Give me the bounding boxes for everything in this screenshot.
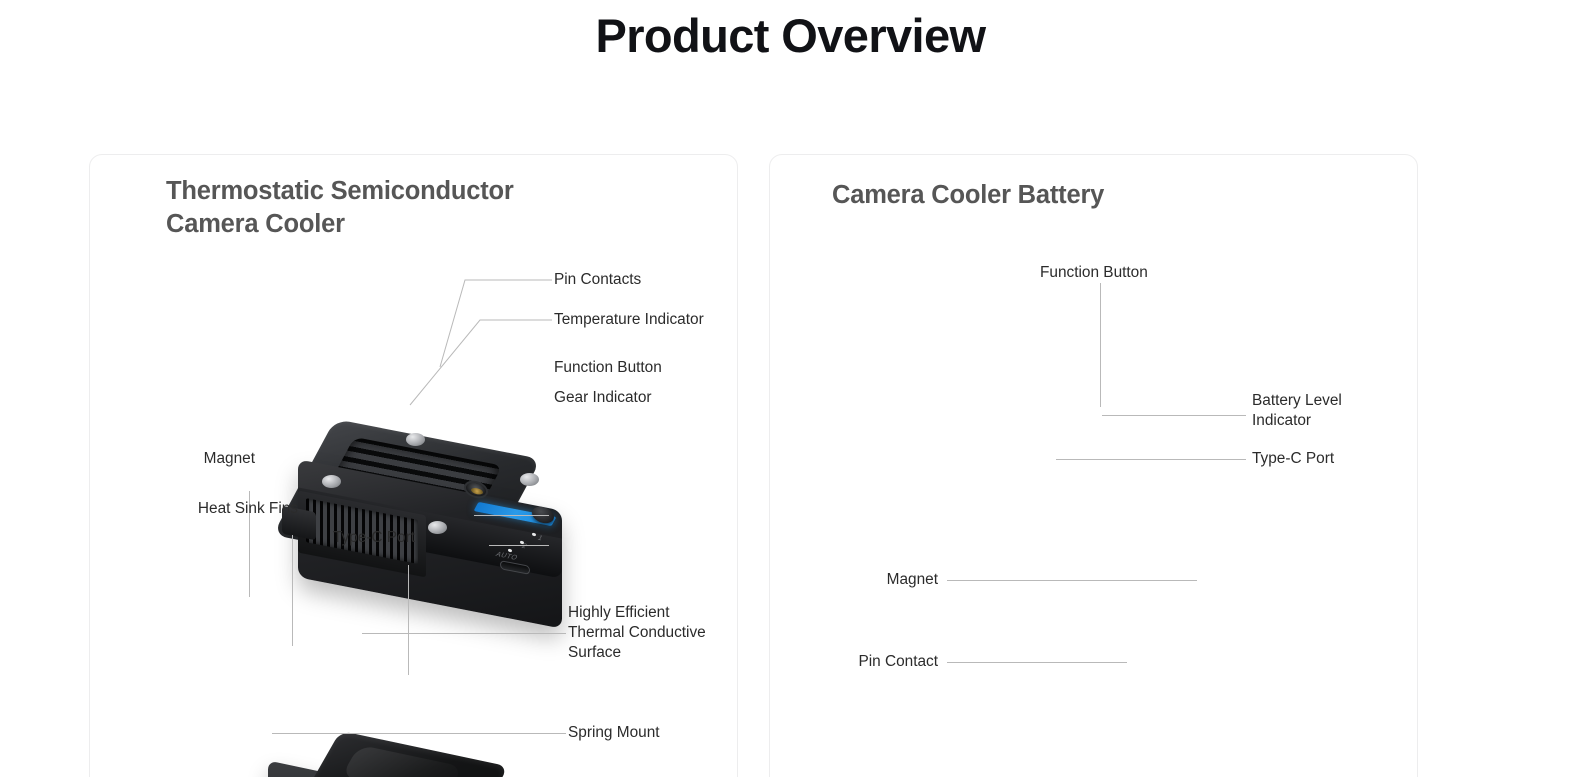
callout-function-button: Function Button [1040, 263, 1148, 283]
callout-magnet: Magnet [130, 449, 255, 469]
product-overview-page: Product Overview Thermostatic Semiconduc… [0, 0, 1581, 777]
cooler-bottom-view-image [238, 735, 568, 777]
leader-line-function-button [1100, 283, 1101, 407]
thermal-conductive-surface [288, 731, 509, 777]
callout-thermal-conductive-surface: Highly Efficient Thermal Conductive Surf… [568, 603, 728, 663]
callout-pin-contacts: Pin Contacts [554, 270, 641, 290]
callout-type-c-port: Type-C Port [1252, 449, 1334, 469]
callout-magnet: Magnet [800, 570, 938, 590]
callout-pin-contact: Pin Contact [790, 652, 938, 672]
callout-function-button: Function Button [554, 358, 662, 378]
card-thermostatic-semiconductor-camera-cooler: Thermostatic Semiconductor Camera Cooler… [89, 154, 738, 777]
callout-battery-level-indicator: Battery Level Indicator [1252, 391, 1392, 431]
page-title: Product Overview [0, 8, 1581, 63]
callout-heat-sink-fins: Heat Sink Fins [130, 499, 298, 519]
card-title-battery: Camera Cooler Battery [832, 179, 1262, 212]
card-camera-cooler-battery: Camera Cooler Battery Function Button Ba… [769, 154, 1418, 777]
leader-line-magnet [947, 580, 1197, 581]
leader-line-function-button [474, 515, 549, 516]
leader-line-type-c-port [1056, 459, 1246, 460]
callout-spring-mount: Spring Mount [568, 723, 660, 743]
leader-line-thermal-surface [362, 633, 566, 634]
callout-gear-indicator: Gear Indicator [554, 388, 652, 408]
callout-temperature-indicator: Temperature Indicator [554, 310, 704, 330]
leader-line-pin-contact [947, 662, 1127, 663]
leader-line-battery-level-indicator [1102, 415, 1246, 416]
leader-line-heat-sink-fins [292, 535, 293, 646]
leader-line-gear-indicator [489, 545, 549, 546]
leader-line-type-c-port [408, 565, 409, 675]
leader-line-spring-mount [272, 733, 566, 734]
callout-type-c-port: Type-C Port [250, 528, 415, 548]
